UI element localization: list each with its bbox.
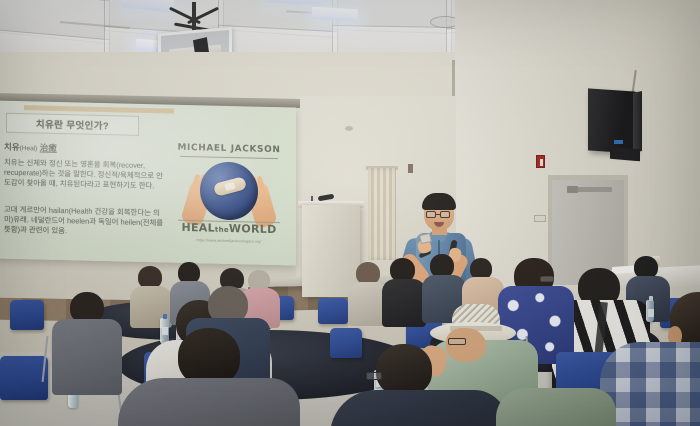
door-closer <box>576 187 612 192</box>
attendee-body <box>496 388 616 426</box>
heal-the-world-graphic: MICHAEL JACKSON HEALtheWORLD https://www… <box>174 143 284 258</box>
artist-name-text: MICHAEL JACKSON <box>174 143 284 156</box>
chair[interactable] <box>330 328 362 358</box>
glasses-lens-right <box>440 211 450 218</box>
artist-name-underline <box>180 156 278 159</box>
water-bottle[interactable] <box>646 300 654 322</box>
slide-heading-korean: 치유 <box>4 142 20 152</box>
glasses <box>366 372 382 380</box>
attendee-face <box>446 328 486 362</box>
projection-screen: 치유란 무엇인가? 치유(Heal) 治癒 치유는 신체와 정신 또는 영혼을 … <box>0 100 296 265</box>
campaign-name-text: HEALtheWORLD <box>174 221 284 237</box>
slide-heading: 치유(Heal) 治癒 <box>4 141 57 154</box>
glasses <box>448 338 466 345</box>
wall-speaker-side <box>633 91 642 153</box>
ceiling-light <box>312 7 358 21</box>
wall-speaker <box>588 88 636 153</box>
fire-alarm-pull[interactable] <box>536 155 545 168</box>
chair[interactable] <box>0 356 48 400</box>
podium <box>302 205 360 297</box>
attendee-body <box>118 378 300 426</box>
slide-title-box: 치유란 무엇인가? <box>6 113 139 136</box>
campaign-url: https://www.michaeljacksonlegacy.org/ <box>174 238 284 245</box>
curtain <box>368 168 396 260</box>
lecture-hall-photo: 치유란 무엇인가? 치유(Heal) 治癒 치유는 신체와 정신 또는 영혼을 … <box>0 0 700 426</box>
glasses-lens-left <box>426 211 436 218</box>
slide-heading-latin: (Heal) <box>20 145 38 152</box>
slide-paragraph-1: 치유는 신체와 정신 또는 영혼을 회복(recover, recuperate… <box>4 158 166 192</box>
projector-pole <box>192 2 196 32</box>
chair[interactable] <box>10 300 44 330</box>
speaker-bracket <box>610 147 640 162</box>
wall-outlet <box>408 164 413 173</box>
presenter-hair <box>422 193 456 210</box>
slide-paragraph-2: 고대 게르만어 hailan(Health 건강을 회복한다는 의미)유래. 네… <box>4 205 166 239</box>
speaker-badge <box>614 140 623 144</box>
attendee-body <box>330 390 508 426</box>
light-switch[interactable] <box>534 215 546 222</box>
slide-accent-bar <box>24 105 174 114</box>
slide-heading-hanja: 治癒 <box>40 143 57 153</box>
chair[interactable] <box>318 298 348 324</box>
attendee-body <box>382 279 426 327</box>
attendee-body <box>52 319 122 395</box>
slide-title: 치유란 무엇인가? <box>7 114 138 135</box>
wall-fixture <box>345 126 353 131</box>
attendee-head <box>376 344 432 396</box>
glasses <box>540 276 554 282</box>
campaign-word-the: the <box>215 226 229 234</box>
glasses-bridge <box>436 214 440 215</box>
